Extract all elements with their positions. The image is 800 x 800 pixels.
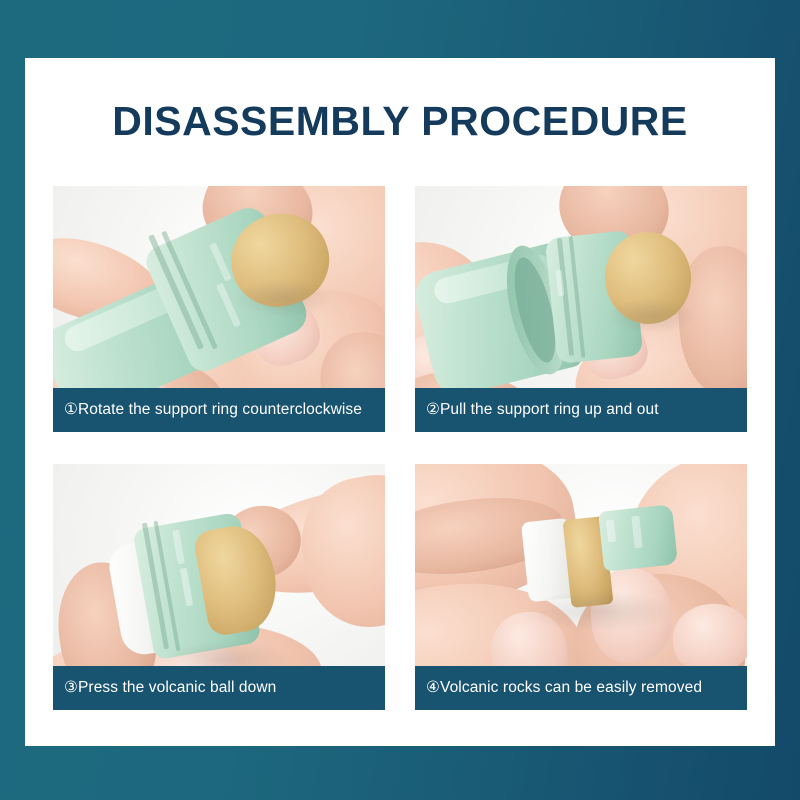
step-card-2[interactable]: ②Pull the support ring up and out (415, 186, 747, 432)
step-caption-3: ③Press the volcanic ball down (53, 666, 385, 710)
stone-shadow-1 (233, 278, 333, 318)
parts-shadow-4 (525, 590, 675, 632)
stone-shadow-2 (605, 298, 697, 334)
step-caption-2: ②Pull the support ring up and out (415, 388, 747, 432)
step-caption-1: ①Rotate the support ring counterclockwis… (53, 388, 385, 432)
white-card: DISASSEMBLY PROCEDURE (25, 58, 775, 746)
page-title: DISASSEMBLY PROCEDURE (25, 98, 775, 145)
step-card-1[interactable]: ①Rotate the support ring counterclockwis… (53, 186, 385, 432)
step-card-4[interactable]: ④Volcanic rocks can be easily removed (415, 464, 747, 710)
poster-frame: DISASSEMBLY PROCEDURE (0, 0, 800, 800)
steps-grid: ①Rotate the support ring counterclockwis… (53, 186, 747, 710)
step-card-3[interactable]: ③Press the volcanic ball down (53, 464, 385, 710)
step-caption-4: ④Volcanic rocks can be easily removed (415, 666, 747, 710)
